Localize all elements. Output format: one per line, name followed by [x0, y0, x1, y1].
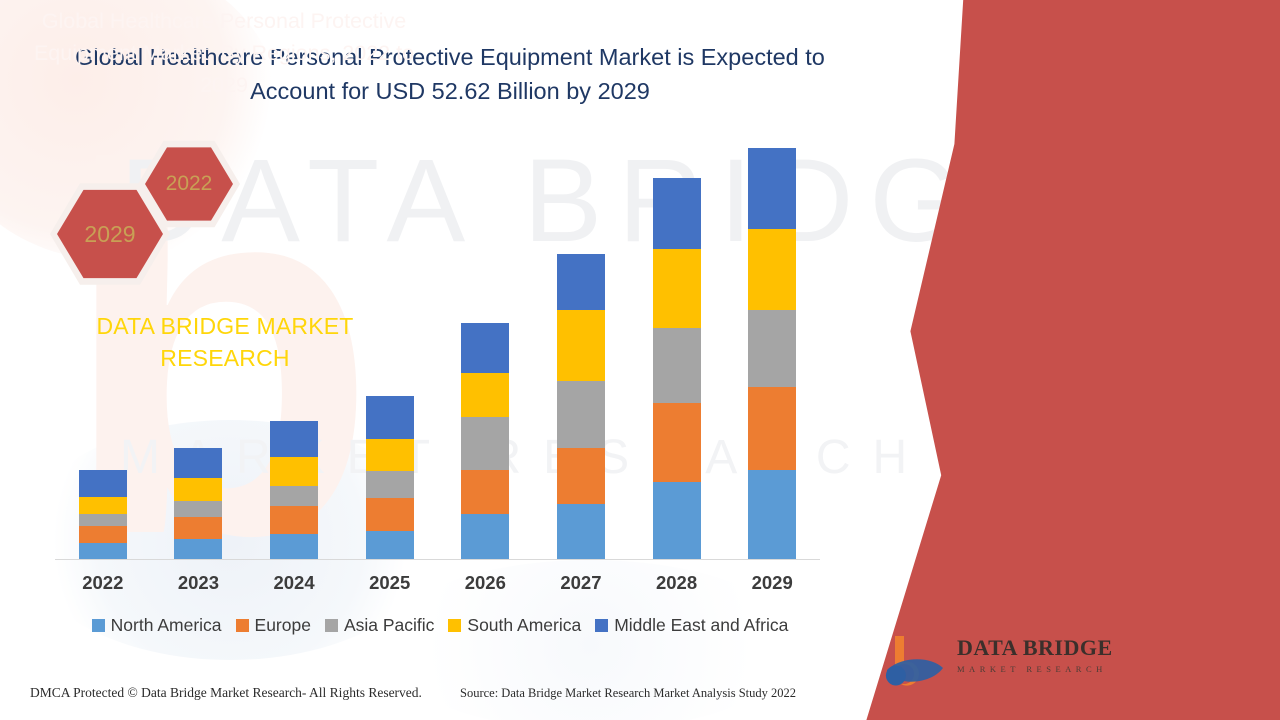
legend-swatch-icon	[448, 619, 461, 632]
legend-label: Europe	[255, 615, 311, 636]
bar-segment[interactable]	[748, 148, 796, 229]
bar-segment[interactable]	[79, 543, 127, 559]
bar-segment[interactable]	[270, 486, 318, 506]
stacked-bar-2024[interactable]	[270, 421, 318, 559]
legend-item[interactable]: Middle East and Africa	[595, 615, 788, 636]
bar-segment[interactable]	[270, 421, 318, 457]
bar-segment[interactable]	[174, 539, 222, 559]
stacked-bar-2025[interactable]	[366, 396, 414, 559]
legend-swatch-icon	[325, 619, 338, 632]
bar-slot	[724, 130, 820, 559]
x-axis-tick-2023: 2023	[151, 572, 247, 594]
stacked-bar-2028[interactable]	[653, 178, 701, 559]
bar-segment[interactable]	[366, 396, 414, 438]
bar-segment[interactable]	[461, 417, 509, 470]
bar-segment[interactable]	[366, 498, 414, 531]
logo-b-icon	[885, 630, 947, 692]
bar-slot	[438, 130, 534, 559]
legend-label: Asia Pacific	[344, 615, 434, 636]
bar-segment[interactable]	[653, 403, 701, 483]
hexagon-badges: 2022 2029	[50, 138, 390, 288]
bar-segment[interactable]	[461, 373, 509, 417]
logo-tagline: MARKET RESEARCH	[957, 664, 1117, 674]
logo-wordmark: DATA BRIDGE MARKET RESEARCH	[957, 636, 1117, 674]
bar-segment[interactable]	[557, 381, 605, 448]
bar-segment[interactable]	[270, 457, 318, 485]
stacked-bar-2026[interactable]	[461, 323, 509, 559]
chart-legend: North AmericaEuropeAsia PacificSouth Ame…	[55, 615, 825, 636]
bar-segment[interactable]	[748, 387, 796, 470]
bar-segment[interactable]	[174, 448, 222, 478]
stacked-bar-2023[interactable]	[174, 448, 222, 559]
x-axis-labels: 20222023202420252026202720282029	[55, 572, 820, 594]
bar-segment[interactable]	[270, 534, 318, 559]
bar-slot	[629, 130, 725, 559]
legend-item[interactable]: South America	[448, 615, 581, 636]
bar-slot	[533, 130, 629, 559]
bar-segment[interactable]	[79, 497, 127, 514]
x-axis-tick-2025: 2025	[342, 572, 438, 594]
x-axis-tick-2026: 2026	[438, 572, 534, 594]
x-axis-tick-2029: 2029	[724, 572, 820, 594]
copyright-notice: DMCA Protected © Data Bridge Market Rese…	[30, 685, 422, 701]
panel-title: Global Healthcare Personal Protective Eq…	[24, 6, 424, 101]
legend-swatch-icon	[236, 619, 249, 632]
bar-segment[interactable]	[653, 328, 701, 403]
bar-segment[interactable]	[653, 178, 701, 250]
bar-segment[interactable]	[461, 323, 509, 373]
bar-segment[interactable]	[174, 478, 222, 501]
bar-segment[interactable]	[366, 471, 414, 498]
stacked-bar-2027[interactable]	[557, 254, 605, 559]
bar-segment[interactable]	[557, 448, 605, 504]
bar-segment[interactable]	[79, 526, 127, 543]
legend-label: North America	[111, 615, 222, 636]
bar-segment[interactable]	[748, 470, 796, 559]
bar-segment[interactable]	[653, 249, 701, 327]
legend-swatch-icon	[595, 619, 608, 632]
legend-swatch-icon	[92, 619, 105, 632]
x-axis-tick-2022: 2022	[55, 572, 151, 594]
hexagon-label-2029: 2029	[84, 221, 135, 248]
hexagon-label-2022: 2022	[166, 172, 213, 196]
bar-segment[interactable]	[270, 506, 318, 534]
brand-name: DATA BRIDGE MARKET RESEARCH	[50, 310, 400, 374]
bar-segment[interactable]	[653, 482, 701, 559]
bar-segment[interactable]	[366, 439, 414, 472]
bar-segment[interactable]	[748, 310, 796, 387]
x-axis-tick-2028: 2028	[629, 572, 725, 594]
source-note: Source: Data Bridge Market Research Mark…	[460, 686, 796, 701]
bar-segment[interactable]	[79, 470, 127, 497]
legend-item[interactable]: Asia Pacific	[325, 615, 434, 636]
right-panel	[840, 0, 1280, 720]
bar-segment[interactable]	[557, 504, 605, 559]
company-logo: DATA BRIDGE MARKET RESEARCH	[885, 630, 1115, 692]
legend-item[interactable]: North America	[92, 615, 222, 636]
stacked-bar-2029[interactable]	[748, 148, 796, 559]
legend-item[interactable]: Europe	[236, 615, 311, 636]
x-axis-tick-2027: 2027	[533, 572, 629, 594]
bar-segment[interactable]	[557, 254, 605, 310]
bar-segment[interactable]	[174, 501, 222, 517]
x-axis-line	[55, 559, 820, 560]
stacked-bar-2022[interactable]	[79, 470, 127, 559]
x-axis-tick-2024: 2024	[246, 572, 342, 594]
hexagon-badge-2029: 2029	[50, 180, 170, 288]
bar-segment[interactable]	[461, 514, 509, 559]
legend-label: South America	[467, 615, 581, 636]
legend-label: Middle East and Africa	[614, 615, 788, 636]
bar-segment[interactable]	[461, 470, 509, 514]
bar-segment[interactable]	[174, 517, 222, 539]
bar-segment[interactable]	[557, 310, 605, 380]
bar-segment[interactable]	[79, 514, 127, 527]
bar-segment[interactable]	[748, 229, 796, 310]
infographic-root: b DATA BRIDGE MARKET RESEARCH Global Hea…	[0, 0, 1280, 720]
bar-segment[interactable]	[366, 531, 414, 559]
logo-name: DATA BRIDGE	[957, 636, 1117, 660]
